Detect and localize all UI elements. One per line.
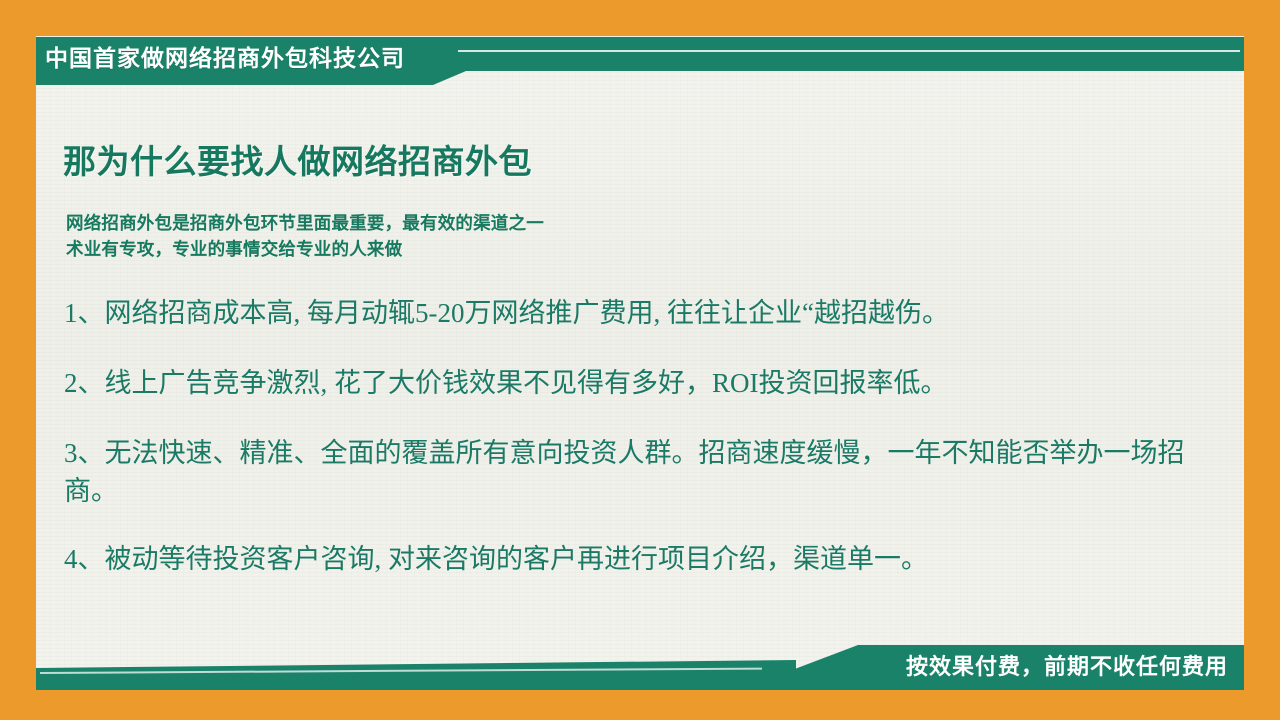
points-list: 1、网络招商成本高, 每月动辄5-20万网络推广费用, 往往让企业“越招越伤。 … (64, 294, 1214, 610)
list-item: 1、网络招商成本高, 每月动辄5-20万网络推广费用, 往往让企业“越招越伤。 (64, 294, 1214, 332)
footer-tagline: 按效果付费，前期不收任何费用 (906, 650, 1228, 684)
header-banner-label: 中国首家做网络招商外包科技公司 (45, 40, 405, 76)
header-banner-rule (458, 50, 1240, 52)
slide-content: 那为什么要找人做网络招商外包 网络招商外包是招商外包环节里面最重要，最有效的渠道… (36, 86, 1244, 626)
subtitle-block: 网络招商外包是招商外包环节里面最重要，最有效的渠道之一 术业有专攻，专业的事情交… (66, 210, 544, 262)
list-item: 4、被动等待投资客户咨询, 对来咨询的客户再进行项目介绍，渠道单一。 (64, 540, 1214, 578)
subtitle-line-1: 网络招商外包是招商外包环节里面最重要，最有效的渠道之一 (66, 210, 544, 236)
subtitle-line-2: 术业有专攻，专业的事情交给专业的人来做 (66, 236, 544, 262)
list-item: 3、无法快速、精准、全面的覆盖所有意向投资人群。招商速度缓慢，一年不知能否举办一… (64, 434, 1214, 510)
slide: 中国首家做网络招商外包科技公司 那为什么要找人做网络招商外包 网络招商外包是招商… (0, 0, 1280, 720)
page-title: 那为什么要找人做网络招商外包 (63, 135, 532, 183)
list-item: 2、线上广告竞争激烈, 花了大价钱效果不见得有多好，ROI投资回报率低。 (64, 364, 1214, 402)
